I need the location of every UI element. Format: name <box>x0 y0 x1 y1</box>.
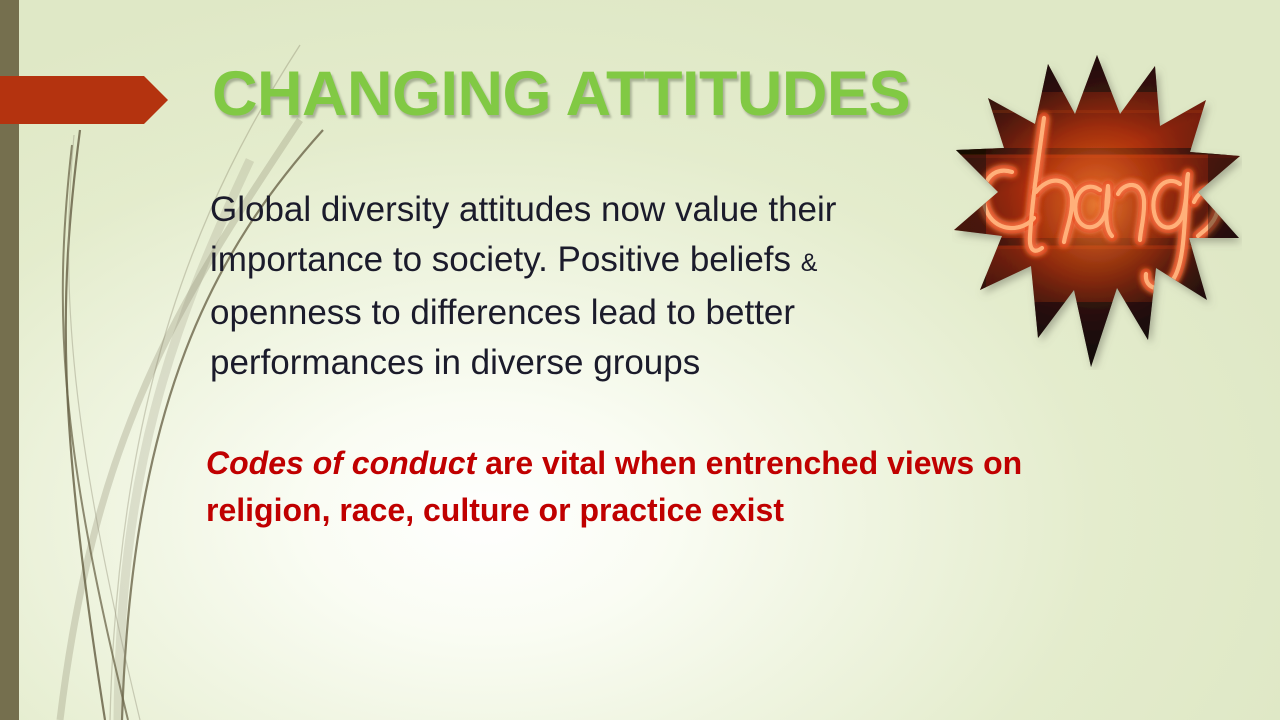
ampersand-glyph: & <box>801 249 818 277</box>
body-tail: openness to differences lead to better p… <box>210 293 795 382</box>
callout-paragraph: Codes of conduct are vital when entrench… <box>206 440 1086 534</box>
callout-emphasis: Codes of conduct <box>206 445 476 481</box>
body-lead: Global diversity attitudes now value the… <box>210 190 836 279</box>
starburst-neon-change-photo <box>952 52 1242 370</box>
presentation-slide: CHANGING ATTITUDES Global diversity atti… <box>0 0 1280 720</box>
slide-title: CHANGING ATTITUDES <box>212 63 910 126</box>
body-paragraph: Global diversity attitudes now value the… <box>210 185 940 388</box>
red-arrow-accent <box>0 76 168 124</box>
